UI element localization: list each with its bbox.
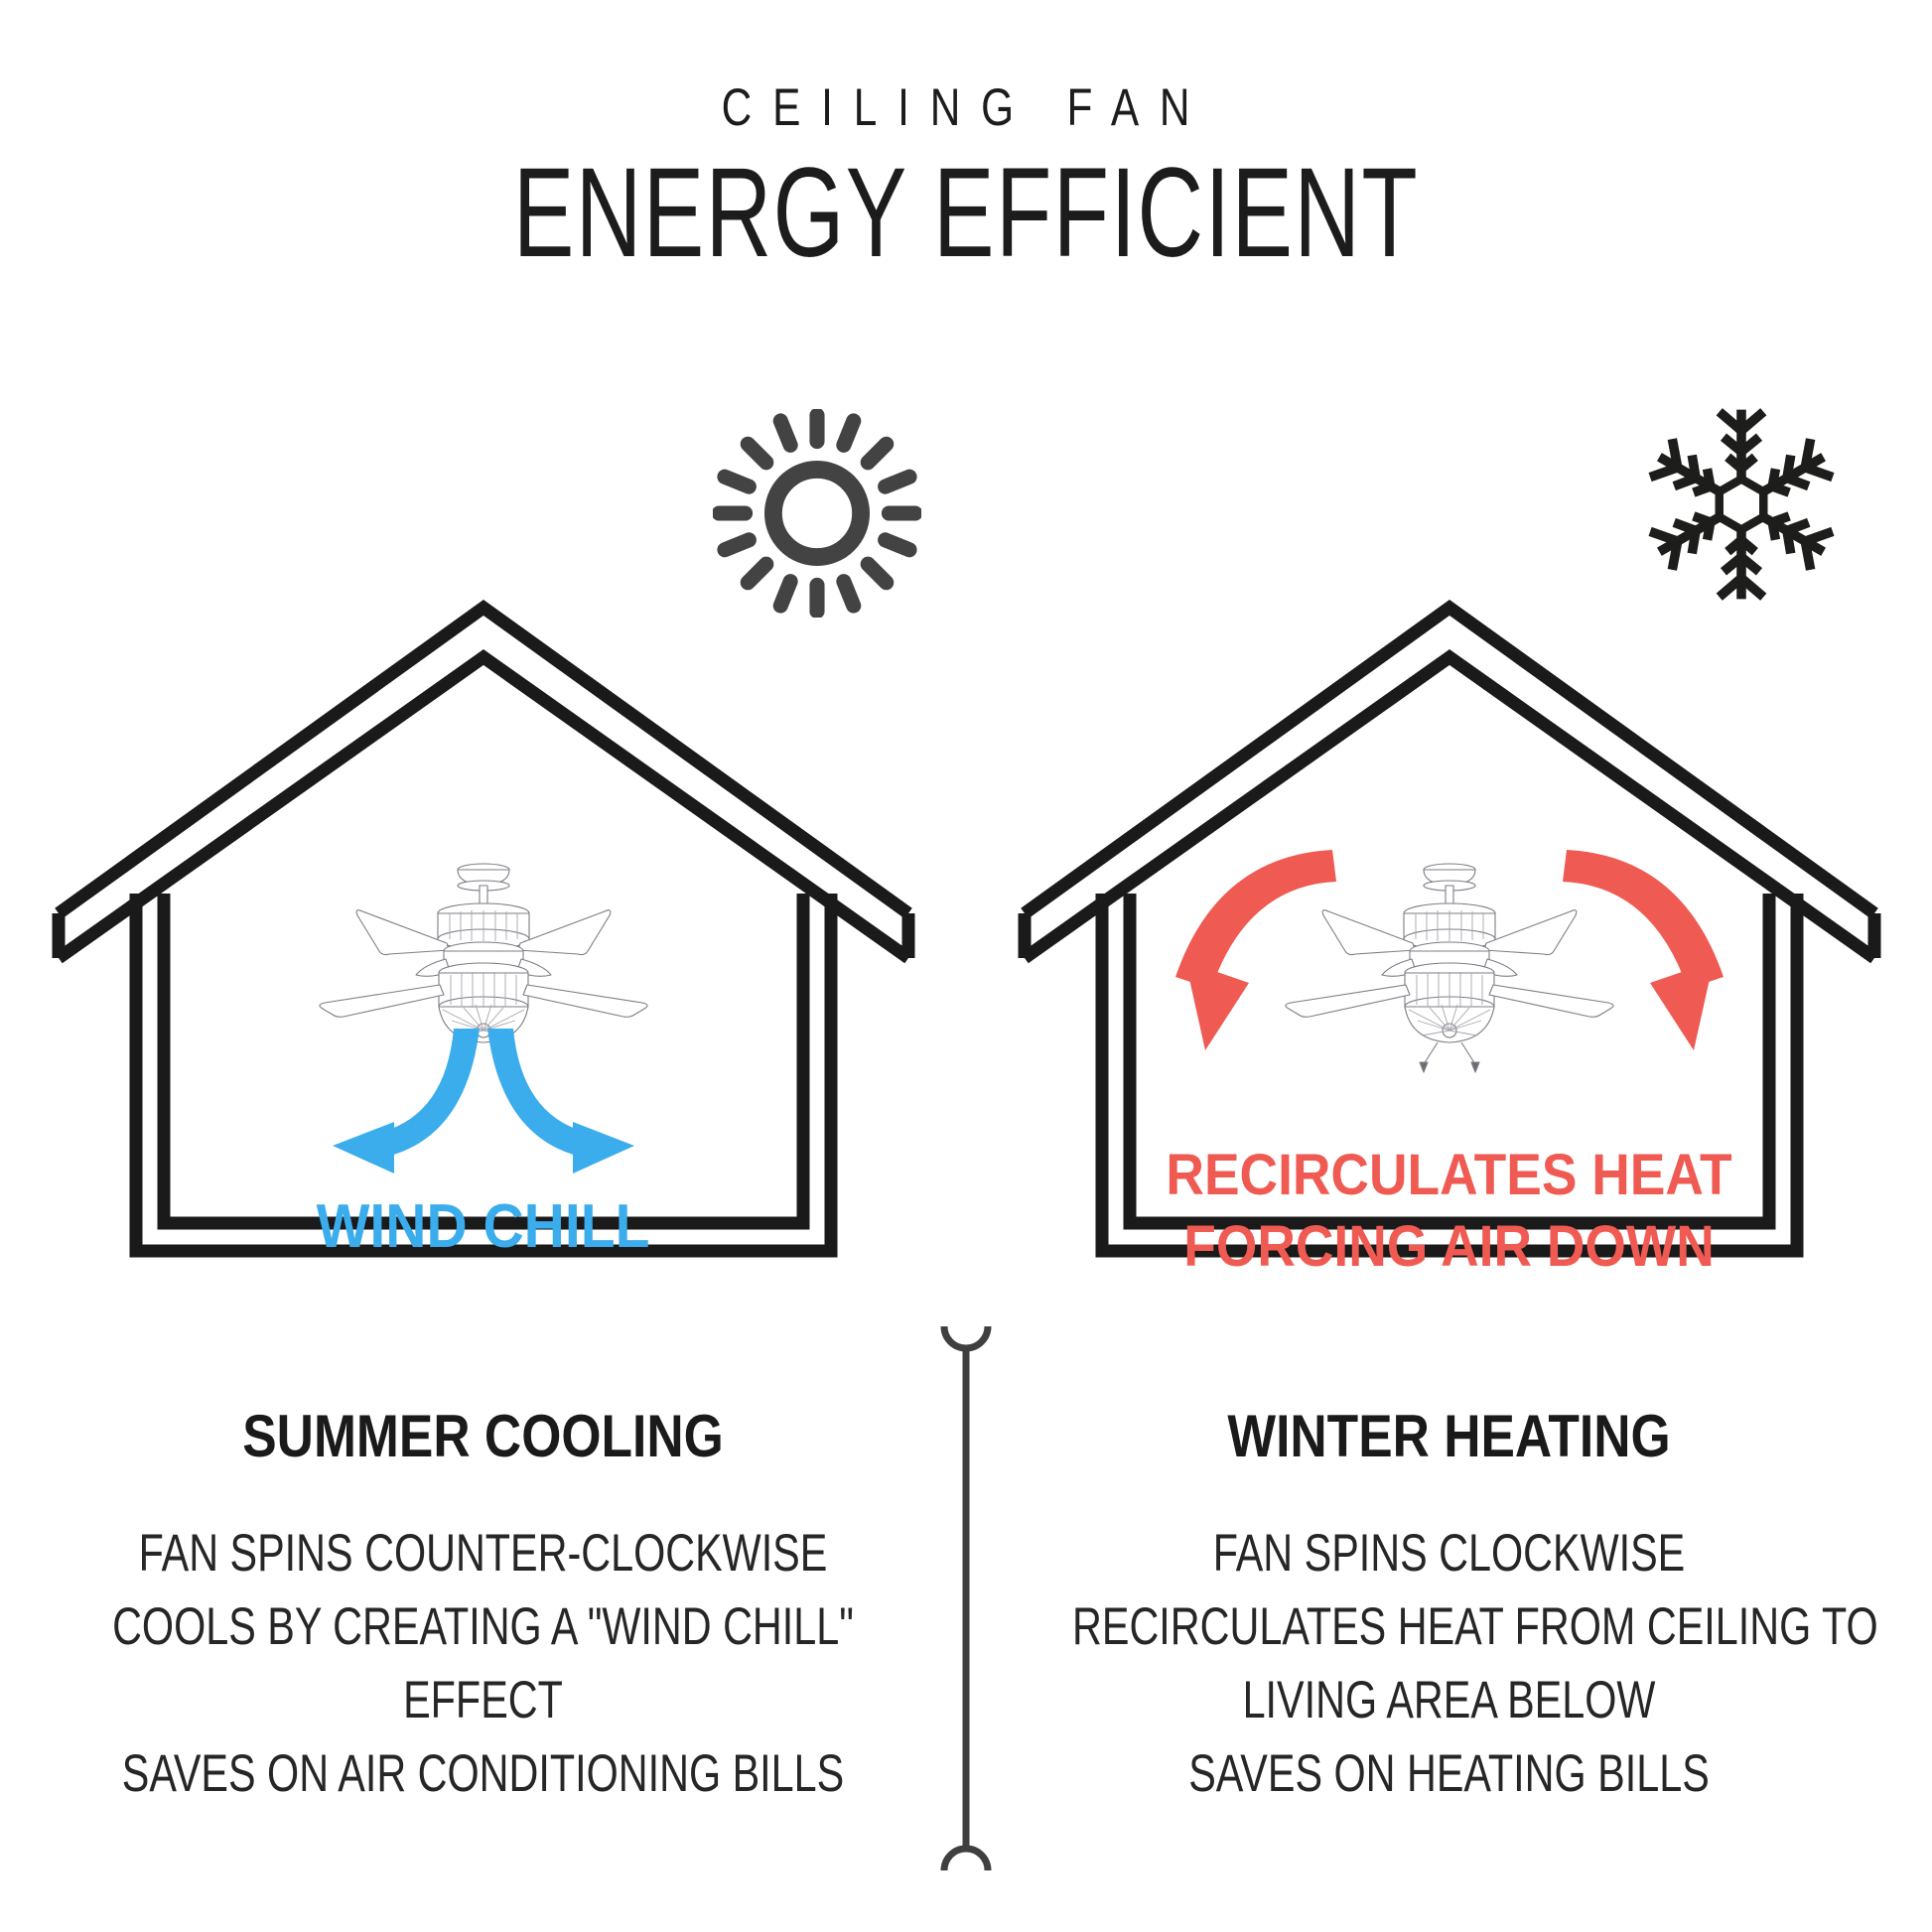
winter-body-line-4: SAVES ON HEATING BILLS: [1072, 1737, 1826, 1811]
winter-body-line-1: FAN SPINS CLOCKWISE: [1072, 1517, 1826, 1590]
summer-body: FAN SPINS COUNTER-CLOCKWISE COOLS BY CRE…: [106, 1517, 860, 1811]
vertical-divider-icon: [926, 1320, 1006, 1881]
summer-airflow-arrows: [255, 1023, 712, 1196]
summer-panel: WIND CHILL SUMMER COOLING FAN SPINS COUN…: [0, 0, 966, 1932]
curved-arrow-left-icon: [333, 1029, 480, 1173]
wind-chill-label: WIND CHILL: [39, 1191, 927, 1262]
forcing-air-down-label: FORCING AIR DOWN: [1005, 1213, 1893, 1280]
summer-body-line-4: SAVES ON AIR CONDITIONING BILLS: [106, 1737, 860, 1811]
winter-body-line-2: RECIRCULATES HEAT FROM CEILING TO: [1072, 1590, 1826, 1664]
summer-body-line-2: COOLS BY CREATING A "WIND CHILL": [106, 1590, 860, 1664]
winter-heading: WINTER HEATING: [1034, 1402, 1864, 1470]
summer-body-line-3: EFFECT: [106, 1664, 860, 1737]
summer-heading: SUMMER COOLING: [68, 1402, 898, 1470]
winter-panel: RECIRCULATES HEAT FORCING AIR DOWN WINTE…: [966, 0, 1932, 1932]
ceiling-fan-icon: [1271, 856, 1628, 1099]
winter-body-line-3: LIVING AREA BELOW: [1072, 1664, 1826, 1737]
summer-body-line-1: FAN SPINS COUNTER-CLOCKWISE: [106, 1517, 860, 1590]
curved-arrow-right-icon: [487, 1029, 634, 1173]
winter-body: FAN SPINS CLOCKWISE RECIRCULATES HEAT FR…: [1072, 1517, 1826, 1811]
recirculates-heat-label: RECIRCULATES HEAT: [1005, 1142, 1893, 1208]
